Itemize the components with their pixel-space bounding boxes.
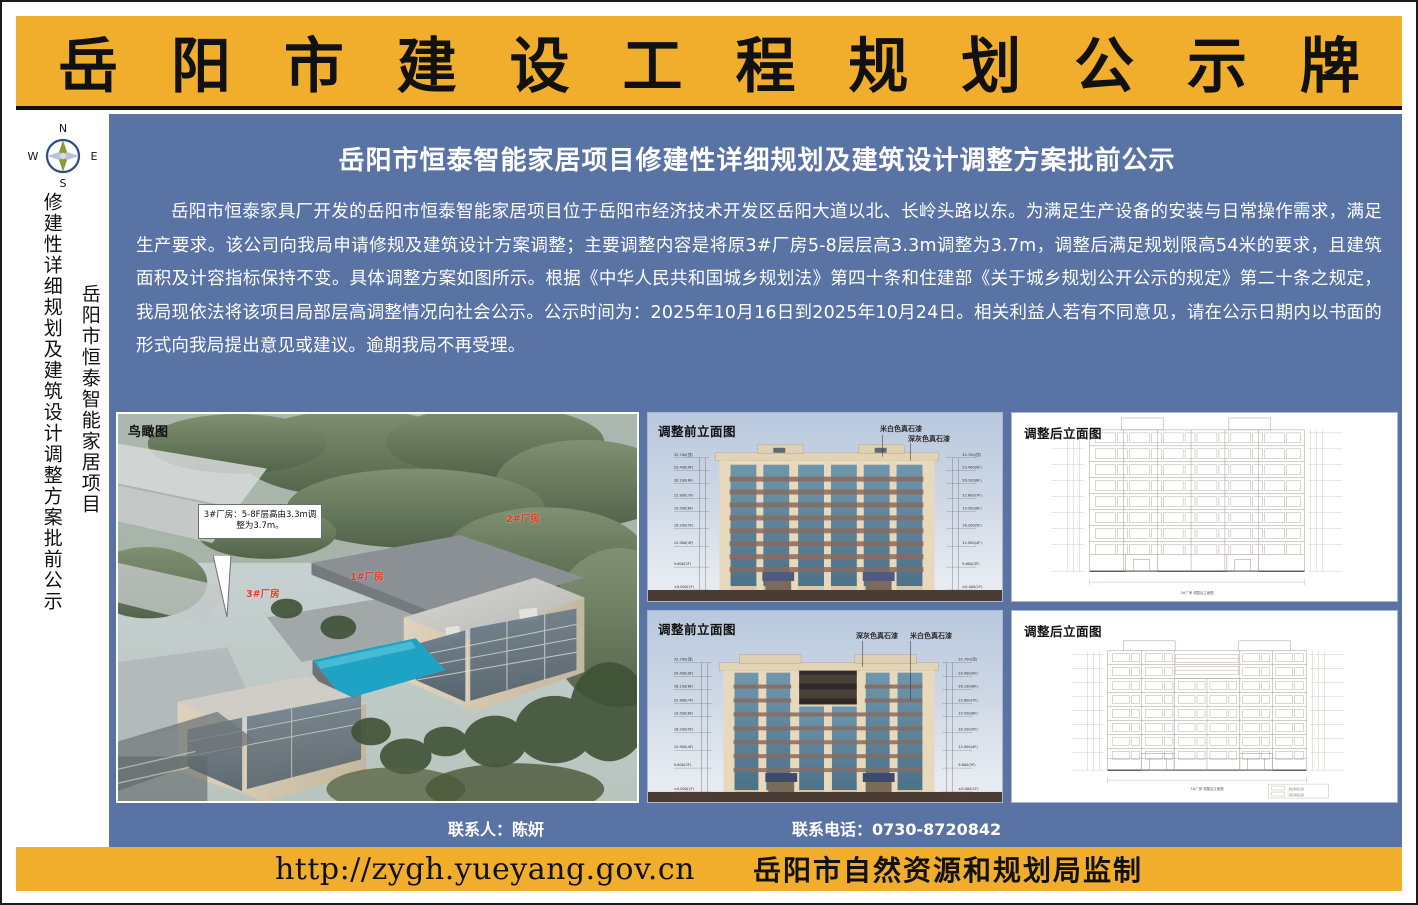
contact-row: 联系人：陈妍 联系电话：0730-8720842 <box>112 814 1402 846</box>
aerial-panel-label: 鸟瞰图 <box>128 421 169 440</box>
svg-text:32.700(顶): 32.700(顶) <box>674 452 693 457</box>
sidebar-vertical-text-1: 修建性详细规划及建筑设计调整方案批前公示 <box>36 192 67 612</box>
svg-text:±0.000(1F): ±0.000(1F) <box>674 787 695 791</box>
svg-text:22.800(7F): 22.800(7F) <box>674 494 694 498</box>
svg-text:19.500(6F): 19.500(6F) <box>962 506 982 510</box>
svg-text:12.900(4F): 12.900(4F) <box>962 541 982 545</box>
svg-text:9.600(3F): 9.600(3F) <box>958 763 976 767</box>
svg-text:3#厂房 调整后立面图: 3#厂房 调整后立面图 <box>1181 590 1215 595</box>
svg-text:±0.000(1F): ±0.000(1F) <box>674 585 695 589</box>
compass-rose-icon: N S E W <box>26 120 100 190</box>
planning-notice-board: 岳 阳 市 建 设 工 程 规 划 公 示 牌 N S E W 修建性详细规划及… <box>0 0 1418 905</box>
elevation-before-label-2: 调整前立面图 <box>658 619 736 638</box>
elevation-after-label-1: 调整后立面图 <box>1024 423 1102 442</box>
svg-text:16.200(5F): 16.200(5F) <box>962 523 982 527</box>
svg-text:16.200(5F): 16.200(5F) <box>674 727 694 731</box>
svg-text:W: W <box>27 150 38 163</box>
elevation-after-label-2: 调整后立面图 <box>1024 621 1102 640</box>
elevation-before-panel-2[interactable]: 32.700(顶)29.400(9F) 26.100(8F)22.800(7F)… <box>647 610 1003 803</box>
aerial-callout-note: 3#厂房：5-8F层高由3.3m调整为3.7m。 <box>198 504 322 539</box>
svg-text:±0.000(1F): ±0.000(1F) <box>962 585 983 589</box>
notice-body-text: 岳阳市恒泰家具厂开发的岳阳市恒泰智能家居项目位于岳阳市经济技术开发区岳阳大道以北… <box>136 196 1382 364</box>
svg-text:26.100(8F): 26.100(8F) <box>674 479 694 483</box>
footer-website-url[interactable]: http://zygh.yueyang.gov.cn <box>275 852 695 887</box>
svg-text:32.700(顶): 32.700(顶) <box>674 657 693 662</box>
svg-text:9.600(3F): 9.600(3F) <box>962 562 980 566</box>
svg-text:29.400(9F): 29.400(9F) <box>958 672 978 676</box>
svg-text:29.400(9F): 29.400(9F) <box>962 466 982 470</box>
aerial-view-panel[interactable]: 鸟瞰图 3#厂房：5-8F层高由3.3m调整为3.7m。 3#厂房 1#厂房 2… <box>116 412 639 803</box>
building-label-2: 2#厂房 <box>506 511 540 525</box>
building-label-3: 3#厂房 <box>246 586 280 600</box>
svg-text:12.900(4F): 12.900(4F) <box>958 745 978 749</box>
svg-text:16.200(5F): 16.200(5F) <box>958 727 978 731</box>
footer-bar: http://zygh.yueyang.gov.cn 岳阳市自然资源和规划局监制 <box>16 847 1402 891</box>
elevation-before-label-1: 调整前立面图 <box>658 421 736 440</box>
svg-text:12.900(4F): 12.900(4F) <box>674 745 694 749</box>
footer-organization: 岳阳市自然资源和规划局监制 <box>753 849 1143 889</box>
svg-text:N: N <box>58 122 66 135</box>
elevation-after-panel-1[interactable]: 3#厂房 调整后立面图 调整后立面图 <box>1011 412 1398 602</box>
aerial-render-image <box>118 414 637 802</box>
drawing-panels: 鸟瞰图 3#厂房：5-8F层高由3.3m调整为3.7m。 3#厂房 1#厂房 2… <box>112 412 1402 807</box>
material-label-cream-2: 米白色真石漆 <box>910 631 952 641</box>
main-content-panel: 岳阳市恒泰智能家居项目修建性详细规划及建筑设计调整方案批前公示 岳阳市恒泰家具厂… <box>112 114 1402 847</box>
left-sidebar: N S E W 修建性详细规划及建筑设计调整方案批前公示 岳阳市恒泰智能家居项目 <box>16 114 112 847</box>
material-label-darkgrey-1: 深灰色真石漆 <box>908 434 950 444</box>
svg-text:16.200(5F): 16.200(5F) <box>674 523 694 527</box>
page-title: 岳 阳 市 建 设 工 程 规 划 公 示 牌 <box>42 18 1376 105</box>
svg-text:26.100(8F): 26.100(8F) <box>958 685 978 689</box>
svg-text:3#厂房 调整后立面图: 3#厂房 调整后立面图 <box>1190 786 1224 791</box>
svg-text:22.800(7F): 22.800(7F) <box>962 494 982 498</box>
material-label-darkgrey-2: 深灰色真石漆 <box>856 631 898 641</box>
svg-text:19.500(6F): 19.500(6F) <box>958 711 978 715</box>
svg-text:26.100(8F): 26.100(8F) <box>962 479 982 483</box>
svg-text:26.100(8F): 26.100(8F) <box>674 685 694 689</box>
sidebar-vertical-text-2: 岳阳市恒泰智能家居项目 <box>74 284 105 515</box>
svg-text:22.800(7F): 22.800(7F) <box>958 698 978 702</box>
elevation-before-panel-1[interactable]: 32.700(顶)29.400(9F) 26.100(8F)22.800(7F)… <box>647 412 1003 602</box>
svg-text:32.700(顶): 32.700(顶) <box>958 657 977 662</box>
svg-text:22.800(7F): 22.800(7F) <box>674 698 694 702</box>
svg-text:19.500(6F): 19.500(6F) <box>674 506 694 510</box>
svg-text:32.700(顶): 32.700(顶) <box>962 452 981 457</box>
board-title-bar: 岳 阳 市 建 设 工 程 规 划 公 示 牌 <box>16 16 1402 110</box>
building-label-1: 1#厂房 <box>350 569 384 583</box>
contact-person: 联系人：陈妍 <box>448 816 544 840</box>
svg-text:S: S <box>59 177 66 190</box>
material-label-cream-1: 米白色真石漆 <box>880 424 922 434</box>
svg-text:29.400(9F): 29.400(9F) <box>674 672 694 676</box>
svg-text:9.600(3F): 9.600(3F) <box>674 562 692 566</box>
svg-text:9.600(3F): 9.600(3F) <box>674 763 692 767</box>
contact-phone: 联系电话：0730-8720842 <box>792 816 1001 840</box>
svg-text:±0.000(1F): ±0.000(1F) <box>958 787 979 791</box>
svg-text:19.500(6F): 19.500(6F) <box>674 711 694 715</box>
svg-text:12.900(4F): 12.900(4F) <box>674 541 694 545</box>
svg-text:米白色真石漆: 米白色真石漆 <box>1289 787 1305 791</box>
project-subtitle: 岳阳市恒泰智能家居项目修建性详细规划及建筑设计调整方案批前公示 <box>112 140 1402 177</box>
svg-text:E: E <box>90 150 97 163</box>
svg-text:深灰色真石漆: 深灰色真石漆 <box>1289 793 1305 797</box>
svg-text:29.400(9F): 29.400(9F) <box>674 466 694 470</box>
elevation-after-panel-2[interactable]: 3#厂房 调整后立面图 米白色真石漆 深灰色真石漆 调整后立面图 <box>1011 610 1398 803</box>
